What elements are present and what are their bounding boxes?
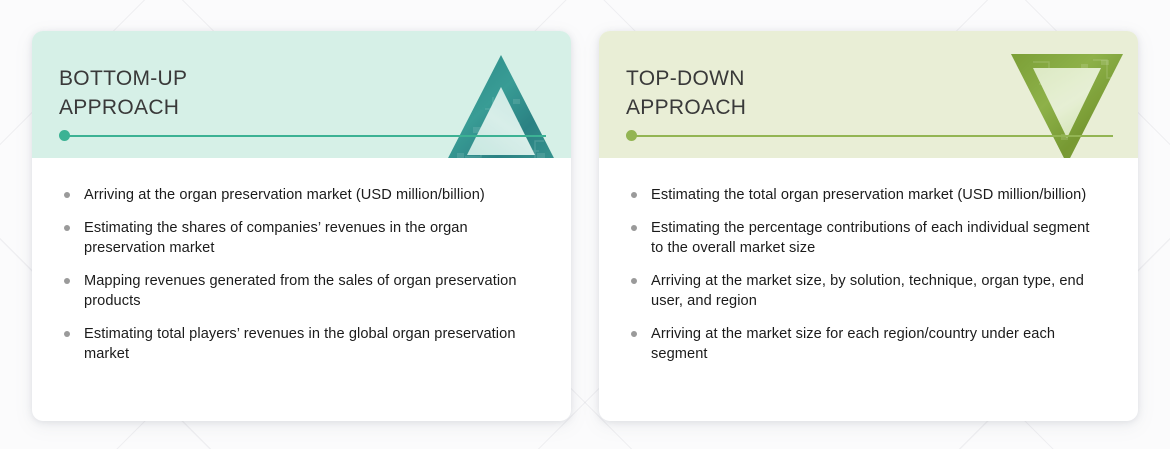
list-item: Mapping revenues generated from the sale… xyxy=(64,271,547,312)
list-item: Arriving at the market size, by solution… xyxy=(631,271,1114,312)
bullet-dot-icon xyxy=(631,192,637,198)
accent-rule-top-down xyxy=(626,130,1113,141)
bullet-list-top-down: Estimating the total organ preservation … xyxy=(599,158,1138,365)
list-item-text: Estimating the shares of companies’ reve… xyxy=(84,218,536,259)
list-item: Estimating the shares of companies’ reve… xyxy=(64,218,547,259)
list-item-text: Arriving at the organ preservation marke… xyxy=(84,185,485,206)
card-top-down-approach: TOP-DOWN APPROACH xyxy=(599,31,1138,421)
triangle-down-icon xyxy=(1009,50,1125,158)
list-item-text: Estimating total players’ revenues in th… xyxy=(84,324,536,365)
accent-rule-bottom-up xyxy=(59,130,546,141)
bullet-dot-icon xyxy=(64,192,70,198)
accent-line xyxy=(631,135,1113,137)
card-header-bottom-up: BOTTOM-UP APPROACH xyxy=(32,31,571,158)
bullet-dot-icon xyxy=(631,331,637,337)
list-item-text: Mapping revenues generated from the sale… xyxy=(84,271,536,312)
card-bottom-up-approach: BOTTOM-UP APPROACH xyxy=(32,31,571,421)
card-title-bottom-up: BOTTOM-UP APPROACH xyxy=(59,64,187,122)
bullet-dot-icon xyxy=(631,225,637,231)
card-title-line1: BOTTOM-UP xyxy=(59,67,187,90)
bullet-dot-icon xyxy=(64,331,70,337)
bullet-dot-icon xyxy=(631,278,637,284)
card-header-top-down: TOP-DOWN APPROACH xyxy=(599,31,1138,158)
accent-line xyxy=(64,135,546,137)
list-item-text: Estimating the total organ preservation … xyxy=(651,185,1086,206)
list-item-text: Arriving at the market size for each reg… xyxy=(651,324,1103,365)
card-title-line2: APPROACH xyxy=(59,96,179,119)
accent-dot xyxy=(626,130,637,141)
list-item: Arriving at the organ preservation marke… xyxy=(64,185,547,206)
approach-comparison-panel: BOTTOM-UP APPROACH xyxy=(0,0,1170,449)
card-title-top-down: TOP-DOWN APPROACH xyxy=(626,64,746,122)
list-item: Estimating total players’ revenues in th… xyxy=(64,324,547,365)
triangle-up-icon xyxy=(443,53,559,158)
card-title-line1: TOP-DOWN xyxy=(626,67,745,90)
card-title-line2: APPROACH xyxy=(626,96,746,119)
list-item: Estimating the percentage contributions … xyxy=(631,218,1114,259)
accent-dot xyxy=(59,130,70,141)
bullet-list-bottom-up: Arriving at the organ preservation marke… xyxy=(32,158,571,365)
list-item-text: Arriving at the market size, by solution… xyxy=(651,271,1103,312)
list-item: Arriving at the market size for each reg… xyxy=(631,324,1114,365)
list-item-text: Estimating the percentage contributions … xyxy=(651,218,1103,259)
bullet-dot-icon xyxy=(64,278,70,284)
list-item: Estimating the total organ preservation … xyxy=(631,185,1114,206)
bullet-dot-icon xyxy=(64,225,70,231)
